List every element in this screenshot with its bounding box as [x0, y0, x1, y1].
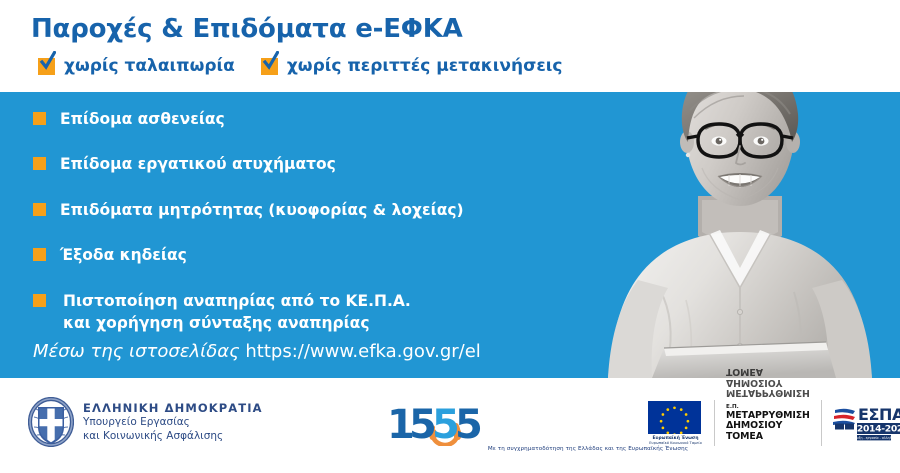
- website-line: Μέσω της ιστοσελίδας https://www.efka.go…: [33, 341, 481, 362]
- banner-header: Παροχές & Επιδόματα e-ΕΦΚΑ χωρίς ταλαιπω…: [0, 0, 900, 92]
- eu-caption-line-2: Ευρωπαϊκό Κοινωνικό Ταμείο: [648, 441, 703, 445]
- check-mark-icon: [39, 51, 56, 71]
- list-item-label: Επίδομα εργατικού ατυχήματος: [60, 153, 336, 175]
- checklist-item-0: χωρίς ταλαιπωρία: [38, 56, 235, 76]
- page-title: Παροχές & Επιδόματα e-ΕΦΚΑ: [31, 14, 463, 44]
- list-item-label: Επίδομα ασθενείας: [60, 108, 225, 130]
- cofunding-note: Με τη συγχρηματοδότηση της Ελλάδας και τ…: [0, 446, 900, 452]
- hotline-1555-logo-icon: 1 5 5 5: [383, 402, 493, 446]
- espa-logo: ΕΣΠΑ 2014-2020 ανάπτυξη - εργασία - αλλη…: [833, 403, 900, 443]
- check-mark-icon: [262, 51, 279, 71]
- checkbox-checked-icon: [261, 58, 278, 75]
- espa-period: 2014-2020: [857, 424, 900, 435]
- checklist-label-1: χωρίς περιττές μετακινήσεις: [287, 56, 563, 76]
- list-item: Επιδόματα μητρότητας (κυοφορίας & λοχεία…: [33, 199, 464, 221]
- government-logo-text: ΕΛΛΗΝΙΚΗ ΔΗΜΟΚΡΑΤΙΑ Υπουργείο Εργασίας κ…: [83, 401, 263, 444]
- divider: [714, 400, 715, 446]
- list-item: Έξοδα κηδείας: [33, 244, 464, 266]
- bullet-square-icon: [33, 203, 46, 216]
- list-item-label: Επιδόματα μητρότητας (κυοφορίας & λοχεία…: [60, 199, 464, 221]
- list-item: Πιστοποίηση αναπηρίας από το ΚΕ.Π.Α. και…: [33, 290, 464, 335]
- bullet-square-icon: [33, 248, 46, 261]
- list-item-label: Έξοδα κηδείας: [60, 244, 187, 266]
- divider: [821, 400, 822, 446]
- government-logo: ΕΛΛΗΝΙΚΗ ΔΗΜΟΚΡΑΤΙΑ Υπουργείο Εργασίας κ…: [28, 397, 263, 447]
- banner-footer: ΕΛΛΗΝΙΚΗ ΔΗΜΟΚΡΑΤΙΑ Υπουργείο Εργασίας κ…: [0, 378, 900, 473]
- program-text: Ε.Π. ΜΕΤΑΡΡΥΘΜΙΣΗ ΔΗΜΟΣΙΟΥ ΤΟΜΕΑ: [726, 404, 810, 442]
- checklist-row: χωρίς ταλαιπωρία χωρίς περιττές μετακινή…: [38, 56, 589, 76]
- espa-funding-logos: Ευρωπαϊκή Ένωση Ευρωπαϊκό Κοινωνικό Ταμε…: [648, 392, 892, 454]
- checklist-label-0: χωρίς ταλαιπωρία: [64, 56, 235, 76]
- program-line-1-mirror: ΜΕΤΑΡΡΥΘΜΙΣΗ: [726, 387, 810, 398]
- program-line-3: ΤΟΜΕΑ: [726, 432, 810, 443]
- website-prefix: Μέσω της ιστοσελίδας: [33, 341, 245, 362]
- operational-program-block: Ε.Π. ΜΕΤΑΡΡΥΘΜΙΣΗ ΔΗΜΟΣΙΟΥ ΤΟΜΕΑ ΜΕΤΑΡΡΥ…: [726, 404, 810, 442]
- checkbox-checked-icon: [38, 58, 55, 75]
- bullet-square-icon: [33, 157, 46, 170]
- svg-text:5: 5: [432, 402, 459, 446]
- bullet-square-icon: [33, 294, 46, 307]
- gov-line-2: Υπουργείο Εργασίας: [83, 416, 263, 430]
- checklist-item-1: χωρίς περιττές μετακινήσεις: [261, 56, 563, 76]
- benefits-list: Επίδομα ασθενείας Επίδομα εργατικού ατυχ…: [33, 108, 464, 352]
- hotline-1555-logo: 1 5 5 5: [383, 402, 493, 446]
- gov-line-1: ΕΛΛΗΝΙΚΗ ΔΗΜΟΚΡΑΤΙΑ: [83, 401, 263, 416]
- espa-tagline: ανάπτυξη - εργασία - αλληλεγγύη: [847, 436, 900, 440]
- efka-benefits-banner: Παροχές & Επιδόματα e-ΕΦΚΑ χωρίς ταλαιπω…: [0, 0, 900, 473]
- espa-logo-icon: ΕΣΠΑ 2014-2020 ανάπτυξη - εργασία - αλλη…: [833, 403, 900, 443]
- svg-text:5: 5: [455, 402, 482, 446]
- bullet-square-icon: [33, 112, 46, 125]
- eu-flag-block: Ευρωπαϊκή Ένωση Ευρωπαϊκό Κοινωνικό Ταμε…: [648, 401, 703, 446]
- list-item-label: Πιστοποίηση αναπηρίας από το ΚΕ.Π.Α. και…: [63, 290, 411, 335]
- list-item: Επίδομα ασθενείας: [33, 108, 464, 130]
- european-union-flag-icon: [648, 401, 701, 434]
- list-item: Επίδομα εργατικού ατυχήματος: [33, 153, 464, 175]
- program-line-2-mirror: ΔΗΜΟΣΙΟΥ: [726, 376, 810, 387]
- website-url[interactable]: https://www.efka.gov.gr/el: [245, 341, 480, 362]
- gov-line-3: και Κοινωνικής Ασφάλισης: [83, 430, 263, 444]
- svg-text:ΕΣΠΑ: ΕΣΠΑ: [858, 405, 900, 424]
- cofunding-text: Με τη συγχρηματοδότηση της Ελλάδας και τ…: [488, 446, 688, 452]
- greek-coat-of-arms-icon: [28, 397, 74, 447]
